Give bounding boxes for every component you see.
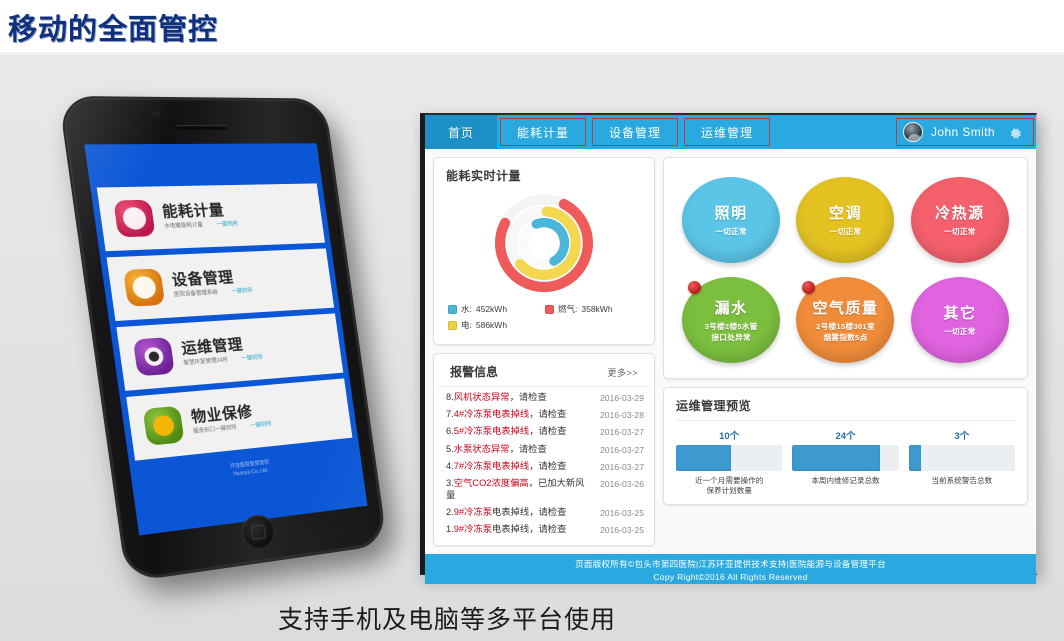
legend-label: 水:: [461, 303, 472, 315]
ops-stat-value: 24个: [792, 428, 898, 442]
energy-metering-card: 能耗实时计量: [433, 157, 655, 345]
alarm-card-header: 报警信息 更多>>: [438, 354, 650, 387]
phone-speaker-icon: [175, 125, 227, 130]
ops-stat-label: 本周内维修记录总数: [792, 476, 898, 486]
app-content: 能耗实时计量: [425, 149, 1036, 554]
list-item[interactable]: 设备管理 医院设备管理系统 一键到所: [107, 248, 335, 321]
footer-line1: 页面版权所有©包头市第四医院|江苏环亚提供技术支持|医院能源与设备管理平台: [425, 558, 1036, 571]
legend-item-water: 水: 452kWh: [448, 303, 545, 315]
legend-swatch: [448, 305, 457, 314]
alarm-row[interactable]: 8.风机状态异常，请检查2016-03-29: [446, 392, 644, 404]
list-item[interactable]: 能耗计量 水电暖能耗计量 一键到所: [97, 183, 325, 251]
gear-icon[interactable]: [1007, 124, 1023, 140]
legend-item-electricity: 电: 586kWh: [448, 319, 545, 331]
alarm-list: 8.风机状态异常，请检查2016-03-297.4#冷冻泵电表掉线，请检查201…: [434, 387, 654, 545]
ops-progress-bar: [792, 445, 898, 471]
alert-dot-icon: [688, 281, 701, 294]
ops-progress-bar: [676, 445, 782, 471]
ops-progress-fill: [792, 445, 879, 471]
legend-label: 燃气:: [558, 303, 577, 315]
tab-ops-management[interactable]: 运维管理: [684, 118, 770, 146]
phone-device: 能耗计量 水电暖能耗计量 一键到所 设备管理 医院设备管理系统: [58, 96, 387, 583]
tab-device-management[interactable]: 设备管理: [592, 118, 678, 146]
legend-value: 452kWh: [476, 304, 507, 314]
legend-swatch: [448, 321, 457, 330]
alarm-date: 2016-03-27: [600, 426, 644, 438]
alarm-date: 2016-03-25: [600, 507, 644, 519]
status-bubble-title: 漏水: [715, 297, 748, 318]
status-bubble-grid: 照明一切正常空调一切正常冷热源一切正常漏水3号楼2楼5水管接口处异常空气质量2号…: [674, 170, 1017, 370]
legend-swatch: [545, 305, 554, 314]
list-item-title: 运维管理: [181, 336, 262, 357]
status-bubble-title: 照明: [715, 202, 748, 223]
alarm-date: 2016-03-26: [600, 478, 644, 490]
phone-app-header: [84, 143, 322, 187]
ops-stat-value: 3个: [909, 428, 1015, 442]
alarm-row[interactable]: 3.空气CO2浓度偏高，已加大新风量2016-03-26: [446, 478, 644, 501]
alarm-info-card: 报警信息 更多>> 8.风机状态异常，请检查2016-03-297.4#冷冻泵电…: [433, 353, 655, 546]
status-bubble-wrap: 空调一切正常: [796, 177, 894, 263]
ops-progress-fill: [909, 445, 922, 471]
alarm-date: 2016-03-27: [600, 461, 644, 473]
alarm-text: 8.风机状态异常，请检查: [446, 392, 547, 404]
alert-dot-icon: [802, 281, 815, 294]
status-bubble-title: 冷热源: [935, 202, 985, 223]
ops-card-title: 运维管理预览: [676, 388, 1015, 421]
alarm-date: 2016-03-25: [600, 524, 644, 536]
status-bubble-wrap: 其它一切正常: [911, 277, 1009, 363]
alarm-text: 4.7#冷冻泵电表掉线，请检查: [446, 461, 566, 473]
alarm-text: 6.5#冷冻泵电表掉线，请检查: [446, 426, 566, 438]
alarm-text: 3.空气CO2浓度偏高，已加大新风量: [446, 478, 586, 501]
status-bubble-title: 空调: [829, 202, 862, 223]
phone-camera-icon: [153, 111, 160, 117]
ops-preview-card: 运维管理预览 10个近一个月需要操作的保养计划数量24个本周内维修记录总数3个当…: [663, 387, 1028, 505]
list-item-sub: 医院设备管理系统: [174, 291, 219, 299]
energy-card-title: 能耗实时计量: [434, 158, 654, 191]
button-face-icon: [123, 268, 165, 306]
smile-face-icon: [113, 200, 155, 238]
desktop-app-window: 首页 能耗计量 设备管理 运维管理 John Smith 能耗实时计量: [420, 113, 1037, 575]
status-bubble[interactable]: 照明一切正常: [682, 177, 780, 263]
ops-stat-value: 10个: [676, 428, 782, 442]
alarm-date: 2016-03-28: [600, 409, 644, 421]
alarm-text: 1.9#冷冻泵电表掉线，请检查: [446, 524, 566, 536]
footer-line2: Copy Right©2016 All Rights Reserved: [425, 571, 1036, 584]
legend-value: 586kWh: [476, 320, 507, 330]
status-bubble-title: 空气质量: [812, 297, 878, 318]
ops-stat-item: 3个当前系统警告总数: [909, 428, 1015, 497]
status-bubble-sub: 一切正常: [944, 327, 976, 337]
ops-stats-grid: 10个近一个月需要操作的保养计划数量24个本周内维修记录总数3个当前系统警告总数: [676, 421, 1015, 497]
status-bubble-wrap: 照明一切正常: [682, 177, 780, 263]
status-bubble-sub: 一切正常: [715, 227, 747, 237]
list-item-more[interactable]: 一键到所: [241, 356, 263, 363]
title-divider: [0, 52, 1064, 55]
alarm-date: 2016-03-27: [600, 444, 644, 456]
alarm-row[interactable]: 4.7#冷冻泵电表掉线，请检查2016-03-27: [446, 461, 644, 473]
avatar[interactable]: [903, 122, 923, 142]
status-bubble[interactable]: 冷热源一切正常: [911, 177, 1009, 263]
list-item[interactable]: 物业保修 服务形口一键到所 一键到所: [126, 378, 352, 460]
list-item-sub: 水电暖能耗计量: [164, 224, 203, 231]
phone-app-list: 能耗计量 水电暖能耗计量 一键到所 设备管理 医院设备管理系统: [90, 183, 357, 461]
status-bubble-sub: 一切正常: [944, 227, 976, 237]
alarm-text: 5.水泵状态异常，请检查: [446, 444, 547, 456]
chart-legend: 水: 452kWh 燃气: 358kWh 电: 586kWh: [434, 301, 654, 331]
alarm-more-link[interactable]: 更多>>: [607, 366, 638, 379]
alarm-row[interactable]: 1.9#冷冻泵电表掉线，请检查2016-03-25: [446, 524, 644, 536]
phone-screen: 能耗计量 水电暖能耗计量 一键到所 设备管理 医院设备管理系统: [84, 143, 367, 535]
phone-mockup: 能耗计量 水电暖能耗计量 一键到所 设备管理 医院设备管理系统: [55, 85, 415, 605]
eye-icon: [133, 337, 175, 376]
list-item-title: 设备管理: [171, 269, 252, 289]
donut-chart-svg: [478, 189, 610, 301]
status-bubble[interactable]: 空调一切正常: [796, 177, 894, 263]
alarm-text: 2.9#冷冻泵电表掉线，请检查: [446, 507, 566, 519]
status-bubble-sub: 一切正常: [830, 227, 862, 237]
status-bubble-sub: 3号楼2楼5水管接口处异常: [705, 322, 758, 343]
legend-label: 电:: [461, 319, 472, 331]
legend-item-gas: 燃气: 358kWh: [545, 303, 642, 315]
alarm-card-title: 报警信息: [450, 363, 498, 380]
status-bubble-wrap: 漏水3号楼2楼5水管接口处异常: [682, 277, 780, 363]
right-column: 照明一切正常空调一切正常冷热源一切正常漏水3号楼2楼5水管接口处异常空气质量2号…: [663, 157, 1028, 546]
status-bubble-sub: 2号楼15楼301室烟雾指数5点: [816, 322, 875, 343]
app-footer: 页面版权所有©包头市第四医院|江苏环亚提供技术支持|医院能源与设备管理平台 Co…: [425, 554, 1036, 584]
status-bubble-wrap: 冷热源一切正常: [911, 177, 1009, 263]
system-status-card: 照明一切正常空调一切正常冷热源一切正常漏水3号楼2楼5水管接口处异常空气质量2号…: [663, 157, 1028, 379]
app-tabbar: 首页 能耗计量 设备管理 运维管理 John Smith: [425, 115, 1036, 149]
alarm-row[interactable]: 7.4#冷冻泵电表掉线，请检查2016-03-28: [446, 409, 644, 421]
tabbar-spacer: [773, 115, 896, 149]
slide-caption: 支持手机及电脑等多平台使用: [278, 600, 616, 636]
status-bubble[interactable]: 其它一切正常: [911, 277, 1009, 363]
list-item-more[interactable]: 一键到所: [217, 223, 239, 229]
legend-value: 358kWh: [581, 304, 612, 314]
ops-stat-item: 10个近一个月需要操作的保养计划数量: [676, 428, 782, 497]
status-bubble-title: 其它: [943, 302, 976, 323]
tab-home[interactable]: 首页: [425, 115, 497, 149]
list-item-more[interactable]: 一键到所: [231, 289, 253, 296]
ops-progress-fill: [676, 445, 731, 471]
user-name: John Smith: [931, 125, 995, 139]
list-item-title: 能耗计量: [161, 202, 237, 220]
ops-stat-item: 24个本周内维修记录总数: [792, 428, 898, 497]
status-bubble[interactable]: 漏水3号楼2楼5水管接口处异常: [682, 277, 780, 363]
alarm-row[interactable]: 6.5#冷冻泵电表掉线，请检查2016-03-27: [446, 426, 644, 438]
ops-stat-label: 当前系统警告总数: [909, 476, 1015, 486]
left-column: 能耗实时计量: [433, 157, 655, 546]
alarm-row[interactable]: 5.水泵状态异常，请检查2016-03-27: [446, 444, 644, 456]
tab-energy-metering[interactable]: 能耗计量: [500, 118, 586, 146]
alarm-date: 2016-03-29: [600, 392, 644, 404]
ops-stat-label: 近一个月需要操作的保养计划数量: [676, 476, 782, 497]
ops-progress-bar: [909, 445, 1015, 471]
status-bubble[interactable]: 空气质量2号楼15楼301室烟雾指数5点: [796, 277, 894, 363]
flower-icon: [143, 406, 185, 446]
list-item[interactable]: 运维管理 智慧环复管理24所 一键到所: [116, 313, 343, 390]
user-menu[interactable]: John Smith: [896, 118, 1034, 146]
status-bubble-wrap: 空气质量2号楼15楼301室烟雾指数5点: [796, 277, 894, 363]
list-item-sub: 服务形口一键到所: [193, 426, 237, 436]
donut-chart: [478, 189, 610, 301]
alarm-text: 7.4#冷冻泵电表掉线，请检查: [446, 409, 566, 421]
alarm-row[interactable]: 2.9#冷冻泵电表掉线，请检查2016-03-25: [446, 507, 644, 519]
list-item-sub: 智慧环复管理24所: [183, 359, 228, 368]
list-item-more[interactable]: 一键到所: [250, 423, 272, 431]
page-title: 移动的全面管控: [8, 6, 218, 48]
